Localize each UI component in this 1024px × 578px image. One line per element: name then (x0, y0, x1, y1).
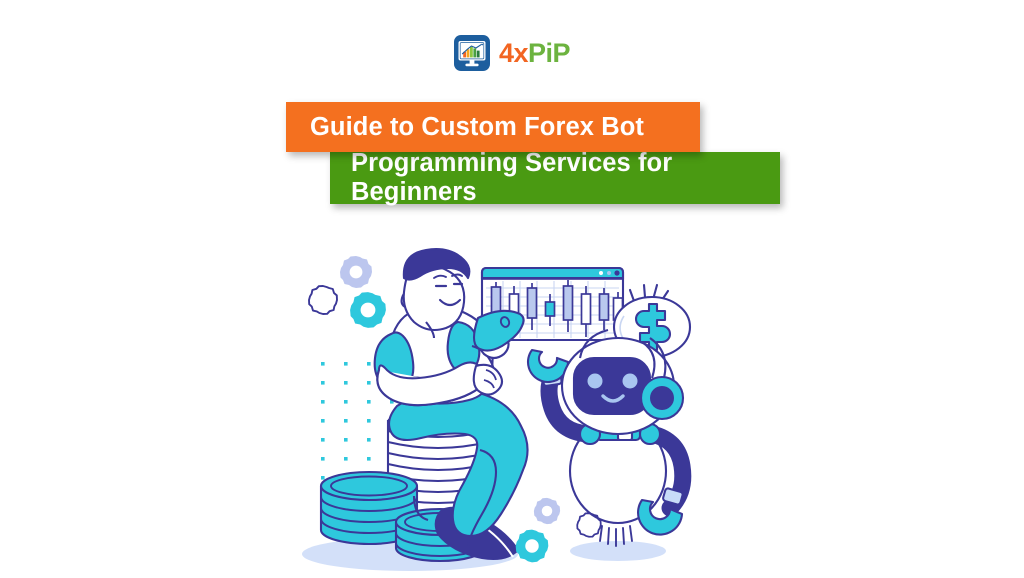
title-line-1-text: Guide to Custom Forex Bot (310, 113, 644, 142)
robot-eye-left (588, 374, 603, 389)
gear-lavender-icon (340, 256, 372, 288)
title-line-2-text: Programming Services for Beginners (351, 149, 780, 207)
ground-shadow-right (570, 541, 666, 561)
forex-trading-bot-illustration: .nv { stroke:#3b3898; fill:none; stroke-… (300, 238, 720, 578)
gear-teal-icon (350, 292, 386, 328)
robot-headphone-right (641, 377, 683, 419)
window-dot-2 (607, 271, 611, 275)
gear-outline-bottom-icon (577, 513, 601, 537)
window-dot-3 (614, 270, 619, 275)
gear-lavender-bottom-icon (534, 498, 560, 524)
man-phone (474, 311, 524, 351)
illustration-svg: .nv { stroke:#3b3898; fill:none; stroke-… (300, 238, 720, 578)
title-banner-line-2: Programming Services for Beginners (330, 152, 780, 204)
logo-wordmark: 4xPiP (499, 40, 570, 67)
robot-eye-right (623, 374, 638, 389)
gear-group-top-left (309, 256, 386, 328)
4xpip-monitor-chart-icon (454, 35, 490, 71)
site-logo[interactable]: 4xPiP (0, 32, 1024, 74)
title-banner-line-1: Guide to Custom Forex Bot (286, 102, 700, 152)
gear-outline-icon (309, 286, 337, 314)
logo-word-part-1: 4x (499, 38, 528, 68)
robot-face-screen (574, 358, 650, 414)
window-dot-1 (599, 271, 603, 275)
gear-teal-bottom-icon (516, 530, 549, 563)
page-canvas: 4xPiP Guide to Custom Forex Bot Programm… (0, 0, 1024, 576)
logo-word-part-2: PiP (528, 38, 570, 68)
